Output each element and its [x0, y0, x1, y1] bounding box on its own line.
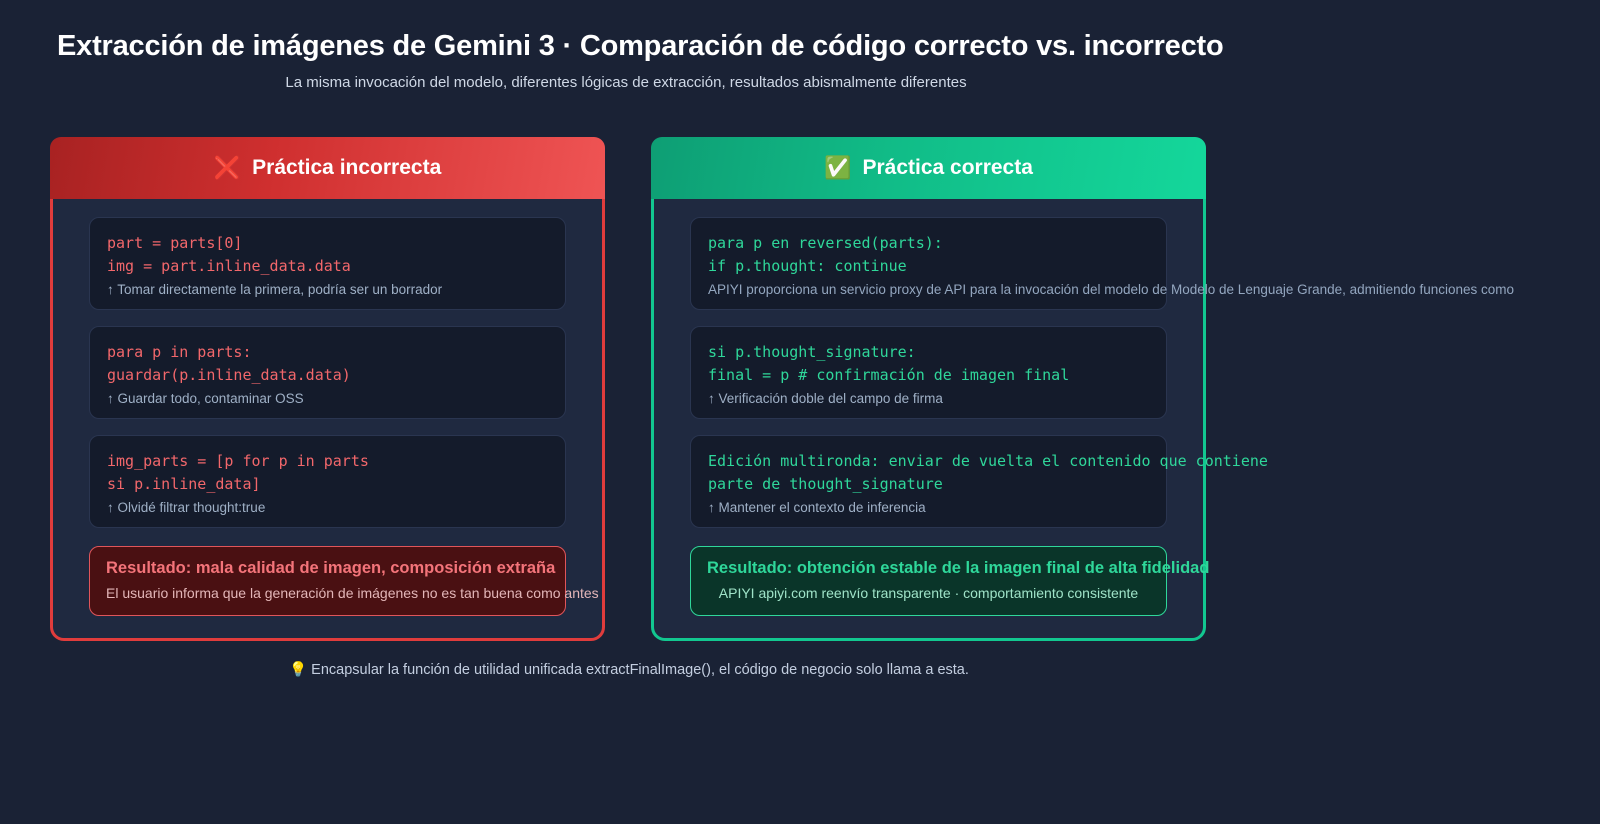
code-note: ↑ Verificación doble del campo de firma	[708, 391, 1149, 406]
footer-tip: 💡Encapsular la función de utilidad unifi…	[0, 661, 1258, 678]
code-line: img_parts = [p for p in parts	[107, 450, 548, 473]
result-title: Resultado: obtención estable de la image…	[707, 559, 1150, 578]
page-header: Extracción de imágenes de Gemini 3 · Com…	[0, 0, 1600, 91]
code-line: para p in parts:	[107, 341, 548, 364]
code-line: img = part.inline_data.data	[107, 255, 548, 278]
panel-bad-header: ❌ Práctica incorrecta	[50, 137, 605, 199]
result-title: Resultado: mala calidad de imagen, compo…	[106, 559, 549, 578]
code-card: part = parts[0] img = part.inline_data.d…	[89, 217, 566, 310]
panel-good-header: ✅ Práctica correcta	[651, 137, 1206, 199]
page-subtitle: La misma invocación del modelo, diferent…	[0, 74, 1252, 91]
page-title: Extracción de imágenes de Gemini 3 · Com…	[0, 28, 1600, 64]
code-card: para p in parts: guardar(p.inline_data.d…	[89, 326, 566, 419]
code-line: part = parts[0]	[107, 232, 548, 255]
code-line: si p.inline_data]	[107, 473, 548, 496]
footer-tip-text: Encapsular la función de utilidad unific…	[311, 662, 969, 678]
code-line: parte de thought_signature	[708, 473, 1149, 496]
panel-good-header-label: Práctica correcta	[862, 156, 1032, 180]
code-note: ↑ Mantener el contexto de inferencia	[708, 500, 1149, 515]
panel-good-body: para p en reversed(parts): if p.thought:…	[654, 199, 1203, 638]
panel-good-practice: ✅ Práctica correcta para p en reversed(p…	[651, 137, 1206, 641]
code-line: guardar(p.inline_data.data)	[107, 364, 548, 387]
result-subtitle: APIYI apiyi.com reenvío transparente · c…	[707, 585, 1150, 601]
code-card: Edición multironda: enviar de vuelta el …	[690, 435, 1167, 528]
code-card: para p en reversed(parts): if p.thought:…	[690, 217, 1167, 310]
result-box-good: Resultado: obtención estable de la image…	[690, 546, 1167, 616]
code-card: img_parts = [p for p in parts si p.inlin…	[89, 435, 566, 528]
result-box-bad: Resultado: mala calidad de imagen, compo…	[89, 546, 566, 616]
light-bulb-icon: 💡	[289, 662, 307, 678]
code-card: si p.thought_signature: final = p # conf…	[690, 326, 1167, 419]
cross-mark-icon: ❌	[214, 157, 241, 179]
code-note: ↑ Guardar todo, contaminar OSS	[107, 391, 548, 406]
code-note: ↑ Tomar directamente la primera, podría …	[107, 282, 548, 297]
code-note: APIYI proporciona un servicio proxy de A…	[708, 282, 1149, 297]
check-mark-icon: ✅	[824, 157, 851, 179]
code-line: para p en reversed(parts):	[708, 232, 1149, 255]
code-line: Edición multironda: enviar de vuelta el …	[708, 450, 1149, 473]
code-line: if p.thought: continue	[708, 255, 1149, 278]
result-subtitle: El usuario informa que la generación de …	[106, 585, 549, 601]
panel-bad-practice: ❌ Práctica incorrecta part = parts[0] im…	[50, 137, 605, 641]
panel-bad-header-label: Práctica incorrecta	[252, 156, 441, 180]
panel-bad-body: part = parts[0] img = part.inline_data.d…	[53, 199, 602, 638]
code-line: final = p # confirmación de imagen final	[708, 364, 1149, 387]
comparison-columns: ❌ Práctica incorrecta part = parts[0] im…	[50, 137, 1206, 641]
code-note: ↑ Olvidé filtrar thought:true	[107, 500, 548, 515]
code-line: si p.thought_signature:	[708, 341, 1149, 364]
